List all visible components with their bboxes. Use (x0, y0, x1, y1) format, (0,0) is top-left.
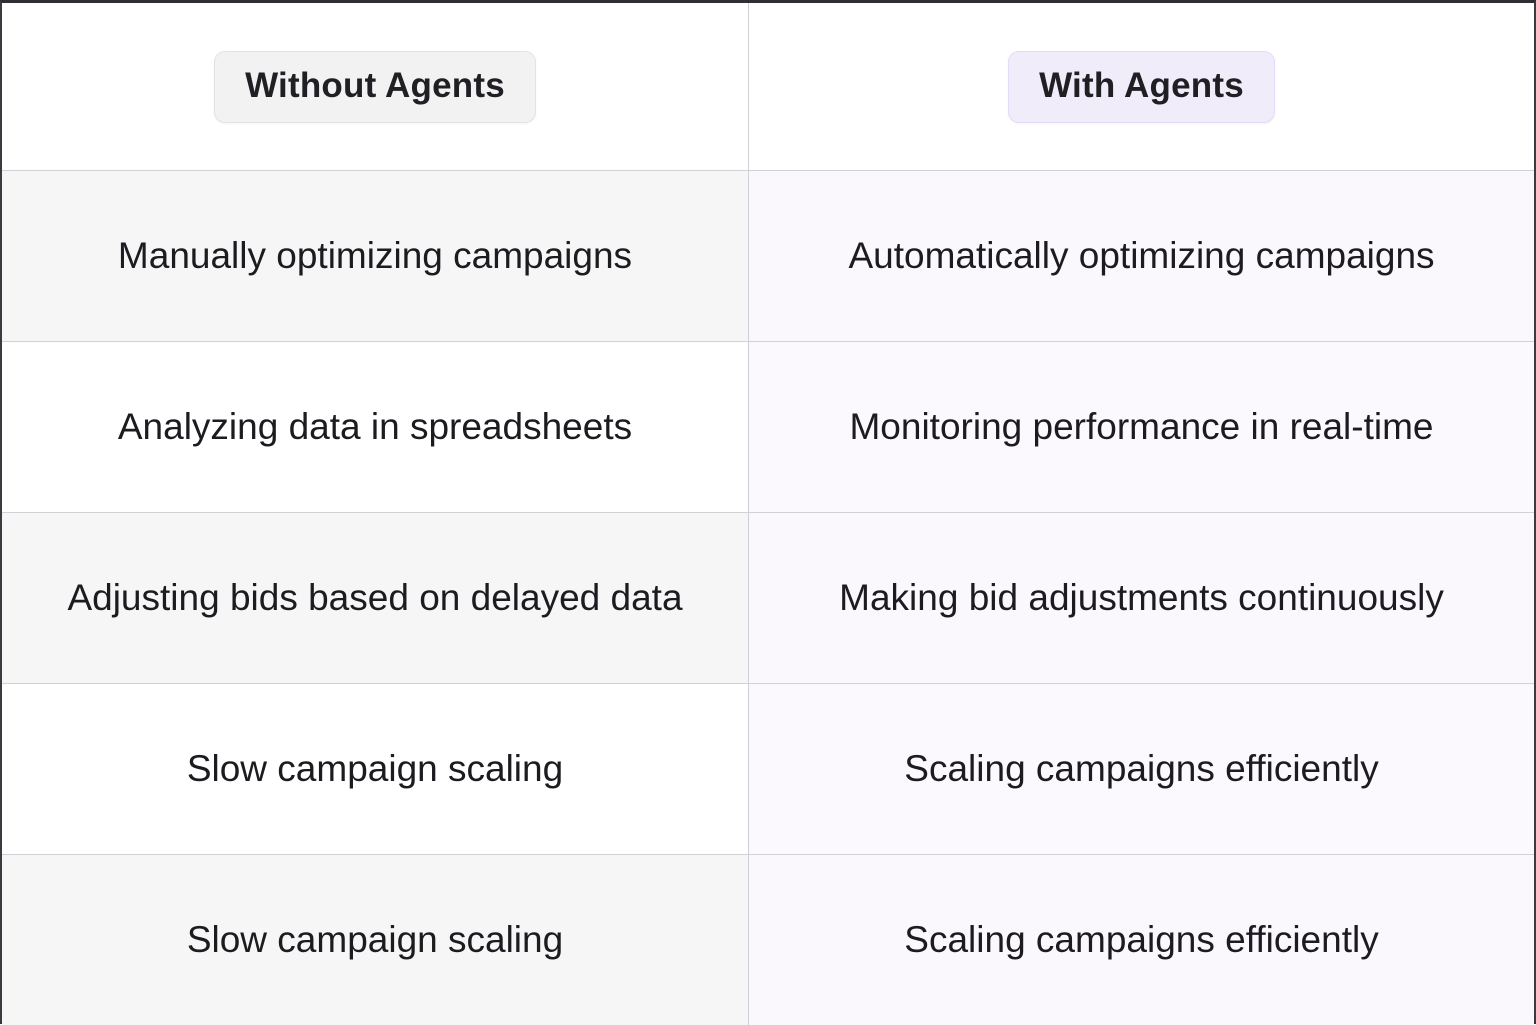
cell-label: Making bid adjustments continuously (839, 576, 1444, 620)
table-cell-without: Adjusting bids based on delayed data (2, 513, 749, 683)
cell-label: Monitoring performance in real-time (849, 405, 1433, 449)
table-cell-without: Slow campaign scaling (2, 684, 749, 854)
cell-label: Scaling campaigns efficiently (904, 918, 1378, 962)
table-cell-with: Scaling campaigns efficiently (749, 855, 1534, 1025)
table-row: Manually optimizing campaigns Automatica… (2, 170, 1534, 341)
table-row: Slow campaign scaling Scaling campaigns … (2, 854, 1534, 1025)
cell-label: Adjusting bids based on delayed data (67, 576, 682, 620)
table-cell-with: Automatically optimizing campaigns (749, 171, 1534, 341)
column-header-with-agents: With Agents (749, 3, 1534, 170)
table-cell-with: Making bid adjustments continuously (749, 513, 1534, 683)
table-row: Adjusting bids based on delayed data Mak… (2, 512, 1534, 683)
table-cell-without: Analyzing data in spreadsheets (2, 342, 749, 512)
with-agents-badge: With Agents (1008, 51, 1275, 123)
column-header-without-agents: Without Agents (2, 3, 749, 170)
without-agents-badge: Without Agents (214, 51, 536, 123)
cell-label: Analyzing data in spreadsheets (118, 405, 632, 449)
table-row: Slow campaign scaling Scaling campaigns … (2, 683, 1534, 854)
table-cell-with: Scaling campaigns efficiently (749, 684, 1534, 854)
cell-label: Slow campaign scaling (187, 747, 563, 791)
table-cell-without: Manually optimizing campaigns (2, 171, 749, 341)
table-row: Analyzing data in spreadsheets Monitorin… (2, 341, 1534, 512)
table-header-row: Without Agents With Agents (2, 3, 1534, 170)
comparison-table: Without Agents With Agents Manually opti… (0, 0, 1536, 1024)
cell-label: Automatically optimizing campaigns (848, 234, 1434, 278)
table-cell-with: Monitoring performance in real-time (749, 342, 1534, 512)
table-cell-without: Slow campaign scaling (2, 855, 749, 1025)
cell-label: Slow campaign scaling (187, 918, 563, 962)
cell-label: Manually optimizing campaigns (118, 234, 632, 278)
cell-label: Scaling campaigns efficiently (904, 747, 1378, 791)
